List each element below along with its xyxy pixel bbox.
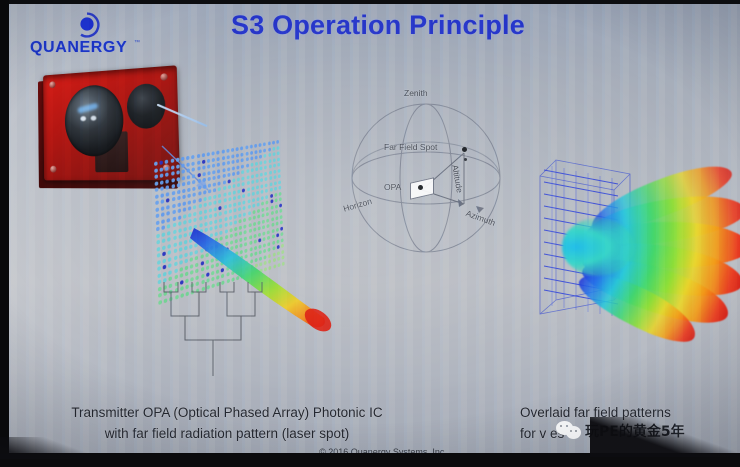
array-element [161,193,165,198]
feed-network-tree [148,280,358,380]
array-element [213,182,216,186]
array-element [255,155,258,159]
array-element [250,150,253,154]
array-element [182,195,186,200]
array-element [227,161,230,165]
array-element [170,158,174,163]
array-element [208,201,211,206]
array-element [255,161,258,165]
array-element [192,167,195,171]
array-element [232,172,235,176]
array-element [277,151,280,155]
array-element [193,199,196,204]
array-element [228,203,231,207]
array-element [203,203,206,208]
array-element [246,181,249,185]
array-element [212,176,215,180]
array-element [171,190,175,195]
array-element [255,173,258,177]
array-element [265,183,268,187]
array-element [156,233,160,238]
array-element [203,190,206,195]
label-opa: OPA [384,182,401,192]
array-element [171,165,175,170]
array-element [177,196,181,201]
array-element [188,200,191,205]
array-element [228,197,231,201]
array-element [260,172,263,176]
array-element [270,193,273,197]
array-element [176,170,180,175]
array-element [165,166,169,171]
array-element [155,181,159,186]
array-element [259,155,262,159]
array-element [223,204,226,209]
array-element [176,158,180,163]
array-element [233,202,236,206]
array-element [269,164,272,168]
wechat-dot [560,425,562,427]
array-element [251,168,254,172]
array-element [165,159,169,164]
array-element [218,181,221,185]
array-element [228,185,231,189]
array-element [241,170,244,174]
array-element [257,202,260,206]
array-element [198,204,201,209]
array-element [166,192,170,197]
array-element [259,149,262,153]
array-element [242,182,245,186]
wechat-dot [566,425,568,427]
array-element [198,191,201,196]
array-element [163,258,167,263]
array-element [265,177,268,181]
array-element [222,156,225,160]
array-element [247,205,250,209]
array-element [268,159,271,163]
array-element [223,192,226,196]
array-element [162,245,166,250]
array-element [238,195,241,199]
array-element [217,169,220,173]
array-element [226,149,229,153]
array-element [162,232,166,237]
array-element [202,159,205,163]
array-element [203,196,206,201]
array-element [264,165,267,169]
array-element [186,156,189,160]
array-element [187,168,190,173]
array-element [212,151,215,155]
array-element [213,200,216,205]
array-element [242,188,245,192]
array-element [217,163,220,167]
array-element [160,173,164,178]
array-element [157,266,161,271]
array-element [274,198,277,202]
array-element [241,158,244,162]
array-element [213,188,216,192]
array-element [197,160,200,164]
mounting-screw [50,166,56,173]
array-element [197,154,200,158]
array-element [246,169,249,173]
array-element [181,169,185,174]
array-element [191,155,194,159]
array-element [166,185,170,190]
array-element [154,161,158,166]
array-element [260,178,263,182]
array-element [223,198,226,202]
array-element [157,259,161,264]
array-element [192,161,195,165]
array-element [172,203,176,208]
array-element [202,172,205,176]
array-element [223,180,226,184]
wechat-dot [570,430,572,432]
array-element [233,196,236,200]
wechat-bubble [566,426,581,439]
array-element [155,200,159,205]
array-element [207,152,210,156]
array-element [176,164,180,169]
array-element [154,174,158,179]
array-element [261,190,264,194]
screenshot-root: QUANERGY ™ S3 Operation Principle [0,0,740,467]
array-element [221,150,224,154]
array-element [246,175,249,179]
array-element [222,162,225,166]
array-element [212,170,215,174]
array-element [277,157,280,161]
array-element [161,206,165,211]
array-element [270,199,273,203]
array-element [265,189,268,193]
array-element [279,197,282,201]
array-element [207,164,210,168]
array-element [216,150,219,154]
array-element [167,211,171,216]
array-element [177,202,181,207]
array-element [240,146,243,150]
label-zenith: Zenith [404,88,428,98]
array-element [197,166,200,170]
array-element [254,150,257,154]
array-element [266,200,269,204]
array-element [203,184,206,189]
array-element [236,147,239,151]
array-element [167,230,171,235]
array-element [264,160,267,164]
array-element [176,177,180,182]
caption-left-line2: with far field radiation pattern (laser … [32,423,422,444]
array-element [250,162,253,166]
array-element [259,160,262,164]
array-element [212,157,215,161]
array-element [227,167,230,171]
array-element [277,163,280,167]
array-element [168,250,172,255]
wechat-watermark: 玩PE的黄金5年 [556,418,685,444]
array-element [274,192,277,196]
watermark-text: 玩PE的黄金5年 [585,421,685,441]
array-element [231,160,234,164]
array-element [245,151,248,155]
label-far-field-spot: Far Field Spot [384,142,437,152]
array-element [167,224,171,229]
array-element [264,154,267,158]
array-element [241,164,244,168]
array-element [155,207,159,212]
array-element [182,182,186,187]
array-element [251,180,254,184]
array-element [192,180,195,185]
array-element [252,192,255,196]
array-element [197,173,200,177]
array-element [270,205,273,209]
array-element [272,141,275,145]
array-element [268,147,271,151]
array-element [162,251,166,256]
array-element [163,265,167,270]
array-element [157,246,161,251]
array-element [231,148,234,152]
coordinate-sphere-diagram: Zenith Far Field Spot Altitude Azimuth O… [326,90,536,270]
array-element [256,185,259,189]
array-element [272,152,275,156]
array-element [272,146,275,150]
array-element [212,163,215,167]
array-element [186,162,189,166]
array-element [242,194,245,198]
array-element [172,197,176,202]
array-element [260,166,263,170]
array-element [187,181,190,186]
array-element [251,174,254,178]
array-element [155,194,159,199]
array-element [193,205,196,210]
array-element [181,157,185,161]
array-element [182,201,186,206]
array-element [202,165,205,169]
array-element [278,168,281,172]
array-element [278,186,281,190]
array-element [259,143,262,147]
array-element [260,184,263,188]
array-element [156,220,160,225]
photo-border-bottom [0,454,740,467]
array-element [273,169,276,173]
array-element [237,189,240,193]
array-element [276,140,279,144]
opa-center-dot [418,185,423,190]
array-element [231,154,234,158]
array-element [232,166,235,170]
array-element [208,177,211,181]
array-element [207,171,210,175]
array-element [233,190,236,194]
array-element [197,179,200,184]
array-element [161,212,165,217]
array-element [270,188,273,192]
array-element [252,204,255,208]
array-element [166,198,170,203]
array-element [227,179,230,183]
copyright-notice: © 2016 Quanergy Systems, Inc. [238,447,528,453]
array-element [198,197,201,202]
far-field-spot-dot-secondary [464,158,467,161]
array-element [269,170,272,174]
array-element [193,192,196,197]
array-element [273,164,276,168]
array-element [171,171,175,176]
array-element [236,153,239,157]
array-element [222,168,225,172]
caption-left-line1: Transmitter OPA (Optical Phased Array) P… [32,402,422,423]
wechat-dot [575,430,577,432]
array-element [192,186,195,191]
array-element [218,199,221,204]
array-element [167,217,171,222]
array-element [154,168,158,173]
array-element [264,171,267,175]
array-element [261,201,264,205]
array-element [165,172,169,177]
array-element [160,160,164,165]
array-element [177,189,181,194]
array-element [166,179,170,184]
array-element [273,158,276,162]
array-element [198,185,201,190]
array-element [269,176,272,180]
array-element [256,179,259,183]
array-element [161,199,165,204]
array-element [167,237,171,242]
array-element [278,180,281,184]
array-element [263,142,266,146]
array-element [274,187,277,191]
array-element [202,153,205,157]
array-element [246,163,249,167]
array-element [237,177,240,181]
array-element [269,182,272,186]
page-title: S3 Operation Principle [8,10,740,41]
projected-slide: QUANERGY ™ S3 Operation Principle [8,4,740,453]
array-element [160,167,164,172]
array-element [182,188,186,193]
array-element [161,219,165,224]
array-element [243,200,246,204]
array-element [250,156,253,160]
array-element [187,175,190,180]
array-element [268,153,271,157]
array-element [160,186,164,191]
array-element [279,191,282,195]
array-element [237,183,240,187]
array-element [228,191,231,195]
array-element [202,178,205,182]
overlaid-far-field-patterns [528,142,740,364]
array-element [250,145,253,149]
array-element [252,198,255,202]
array-element [256,191,259,195]
array-element [217,156,220,160]
array-element [278,174,281,178]
array-element [226,155,229,159]
array-element [232,184,235,188]
opa-array-simulation [154,162,354,377]
array-element [157,253,161,258]
beam-throat [562,218,634,276]
wechat-icon [556,420,582,442]
array-element [247,199,250,203]
array-element [160,180,164,185]
array-element [181,163,185,168]
array-element [163,271,167,276]
array-element [208,195,211,200]
array-element [155,187,159,192]
array-element [275,204,278,208]
array-element [218,187,221,191]
array-element [236,159,239,163]
array-element [242,176,245,180]
array-element [207,158,210,162]
array-element [171,178,175,183]
array-element [254,144,257,148]
array-element [227,173,230,177]
array-element [236,165,239,169]
array-element [192,174,195,179]
array-element [276,146,279,150]
array-element [232,178,235,182]
array-element [156,226,160,231]
array-element [182,176,186,181]
array-element [213,194,216,199]
array-element [279,203,282,207]
array-element [238,201,241,205]
array-element [217,175,220,179]
array-element [218,193,221,197]
array-element [222,174,225,178]
array-element [245,145,248,149]
far-field-spot-dot [462,147,467,152]
array-element [208,189,211,194]
array-element [247,187,250,191]
array-element [245,157,248,161]
array-element [157,273,161,278]
array-element [166,204,170,209]
array-element [162,238,166,243]
array-element [261,196,264,200]
array-element [273,175,276,179]
array-element [188,193,191,198]
array-element [177,183,181,188]
array-element [162,225,166,230]
array-element [171,184,175,189]
array-element [187,187,190,192]
array-element [268,141,271,145]
array-element [255,167,258,171]
array-element [251,186,254,190]
array-element [237,171,240,175]
caption-left: Transmitter OPA (Optical Phased Array) P… [32,402,422,444]
array-element [265,194,268,198]
array-element [208,183,211,187]
array-element [256,197,259,201]
array-element [274,181,277,185]
array-element [168,243,172,248]
